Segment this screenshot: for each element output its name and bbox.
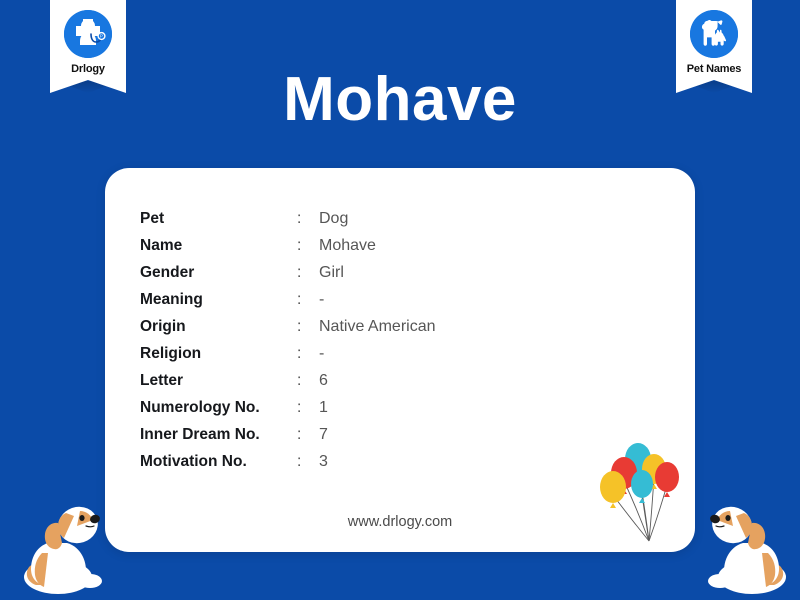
table-row: Meaning : - bbox=[140, 291, 436, 318]
table-row: Religion : - bbox=[140, 345, 436, 372]
table-row: Inner Dream No. : 7 bbox=[140, 426, 436, 453]
badge-pet-names-body: Pet Names bbox=[676, 0, 752, 93]
row-label: Name bbox=[140, 237, 297, 255]
row-separator: : bbox=[297, 264, 319, 282]
svg-text:P: P bbox=[100, 34, 103, 39]
dog-cat-icon bbox=[690, 10, 738, 58]
row-label: Numerology No. bbox=[140, 399, 297, 417]
row-label: Meaning bbox=[140, 291, 297, 309]
row-label: Inner Dream No. bbox=[140, 426, 297, 444]
table-row: Pet : Dog bbox=[140, 210, 436, 237]
row-separator: : bbox=[297, 372, 319, 390]
row-separator: : bbox=[297, 399, 319, 417]
row-separator: : bbox=[297, 426, 319, 444]
row-label: Pet bbox=[140, 210, 297, 228]
badge-pet-names[interactable]: Pet Names bbox=[676, 0, 752, 93]
table-row: Gender : Girl bbox=[140, 264, 436, 291]
footer-website: www.drlogy.com bbox=[105, 514, 695, 530]
row-label: Letter bbox=[140, 372, 297, 390]
doctor-stethoscope-icon: P bbox=[64, 10, 112, 58]
row-value: 6 bbox=[319, 372, 328, 390]
pet-details-table: Pet : Dog Name : Mohave Gender : Girl Me… bbox=[140, 210, 436, 480]
dog-sitting-right-icon bbox=[704, 493, 792, 600]
row-separator: : bbox=[297, 453, 319, 471]
badge-drlogy-label: Drlogy bbox=[54, 63, 122, 75]
row-value: Native American bbox=[319, 318, 436, 336]
row-value: Mohave bbox=[319, 237, 376, 255]
row-label: Religion bbox=[140, 345, 297, 363]
dog-sitting-left-icon bbox=[18, 493, 106, 600]
row-separator: : bbox=[297, 291, 319, 309]
row-label: Motivation No. bbox=[140, 453, 297, 471]
row-value: - bbox=[319, 291, 324, 309]
row-separator: : bbox=[297, 210, 319, 228]
table-row: Name : Mohave bbox=[140, 237, 436, 264]
pet-name-details-card: Pet : Dog Name : Mohave Gender : Girl Me… bbox=[105, 168, 695, 552]
row-separator: : bbox=[297, 237, 319, 255]
row-value: Girl bbox=[319, 264, 344, 282]
row-value: Dog bbox=[319, 210, 348, 228]
table-row: Origin : Native American bbox=[140, 318, 436, 345]
row-value: 1 bbox=[319, 399, 328, 417]
balloons-icon bbox=[597, 437, 687, 550]
row-label: Origin bbox=[140, 318, 297, 336]
table-row: Numerology No. : 1 bbox=[140, 399, 436, 426]
table-row: Motivation No. : 3 bbox=[140, 453, 436, 480]
row-value: 7 bbox=[319, 426, 328, 444]
row-value: - bbox=[319, 345, 324, 363]
table-row: Letter : 6 bbox=[140, 372, 436, 399]
row-separator: : bbox=[297, 318, 319, 336]
row-value: 3 bbox=[319, 453, 328, 471]
row-label: Gender bbox=[140, 264, 297, 282]
badge-pet-names-label: Pet Names bbox=[680, 63, 748, 75]
row-separator: : bbox=[297, 345, 319, 363]
badge-drlogy[interactable]: P Drlogy bbox=[50, 0, 126, 93]
badge-drlogy-body: P Drlogy bbox=[50, 0, 126, 93]
